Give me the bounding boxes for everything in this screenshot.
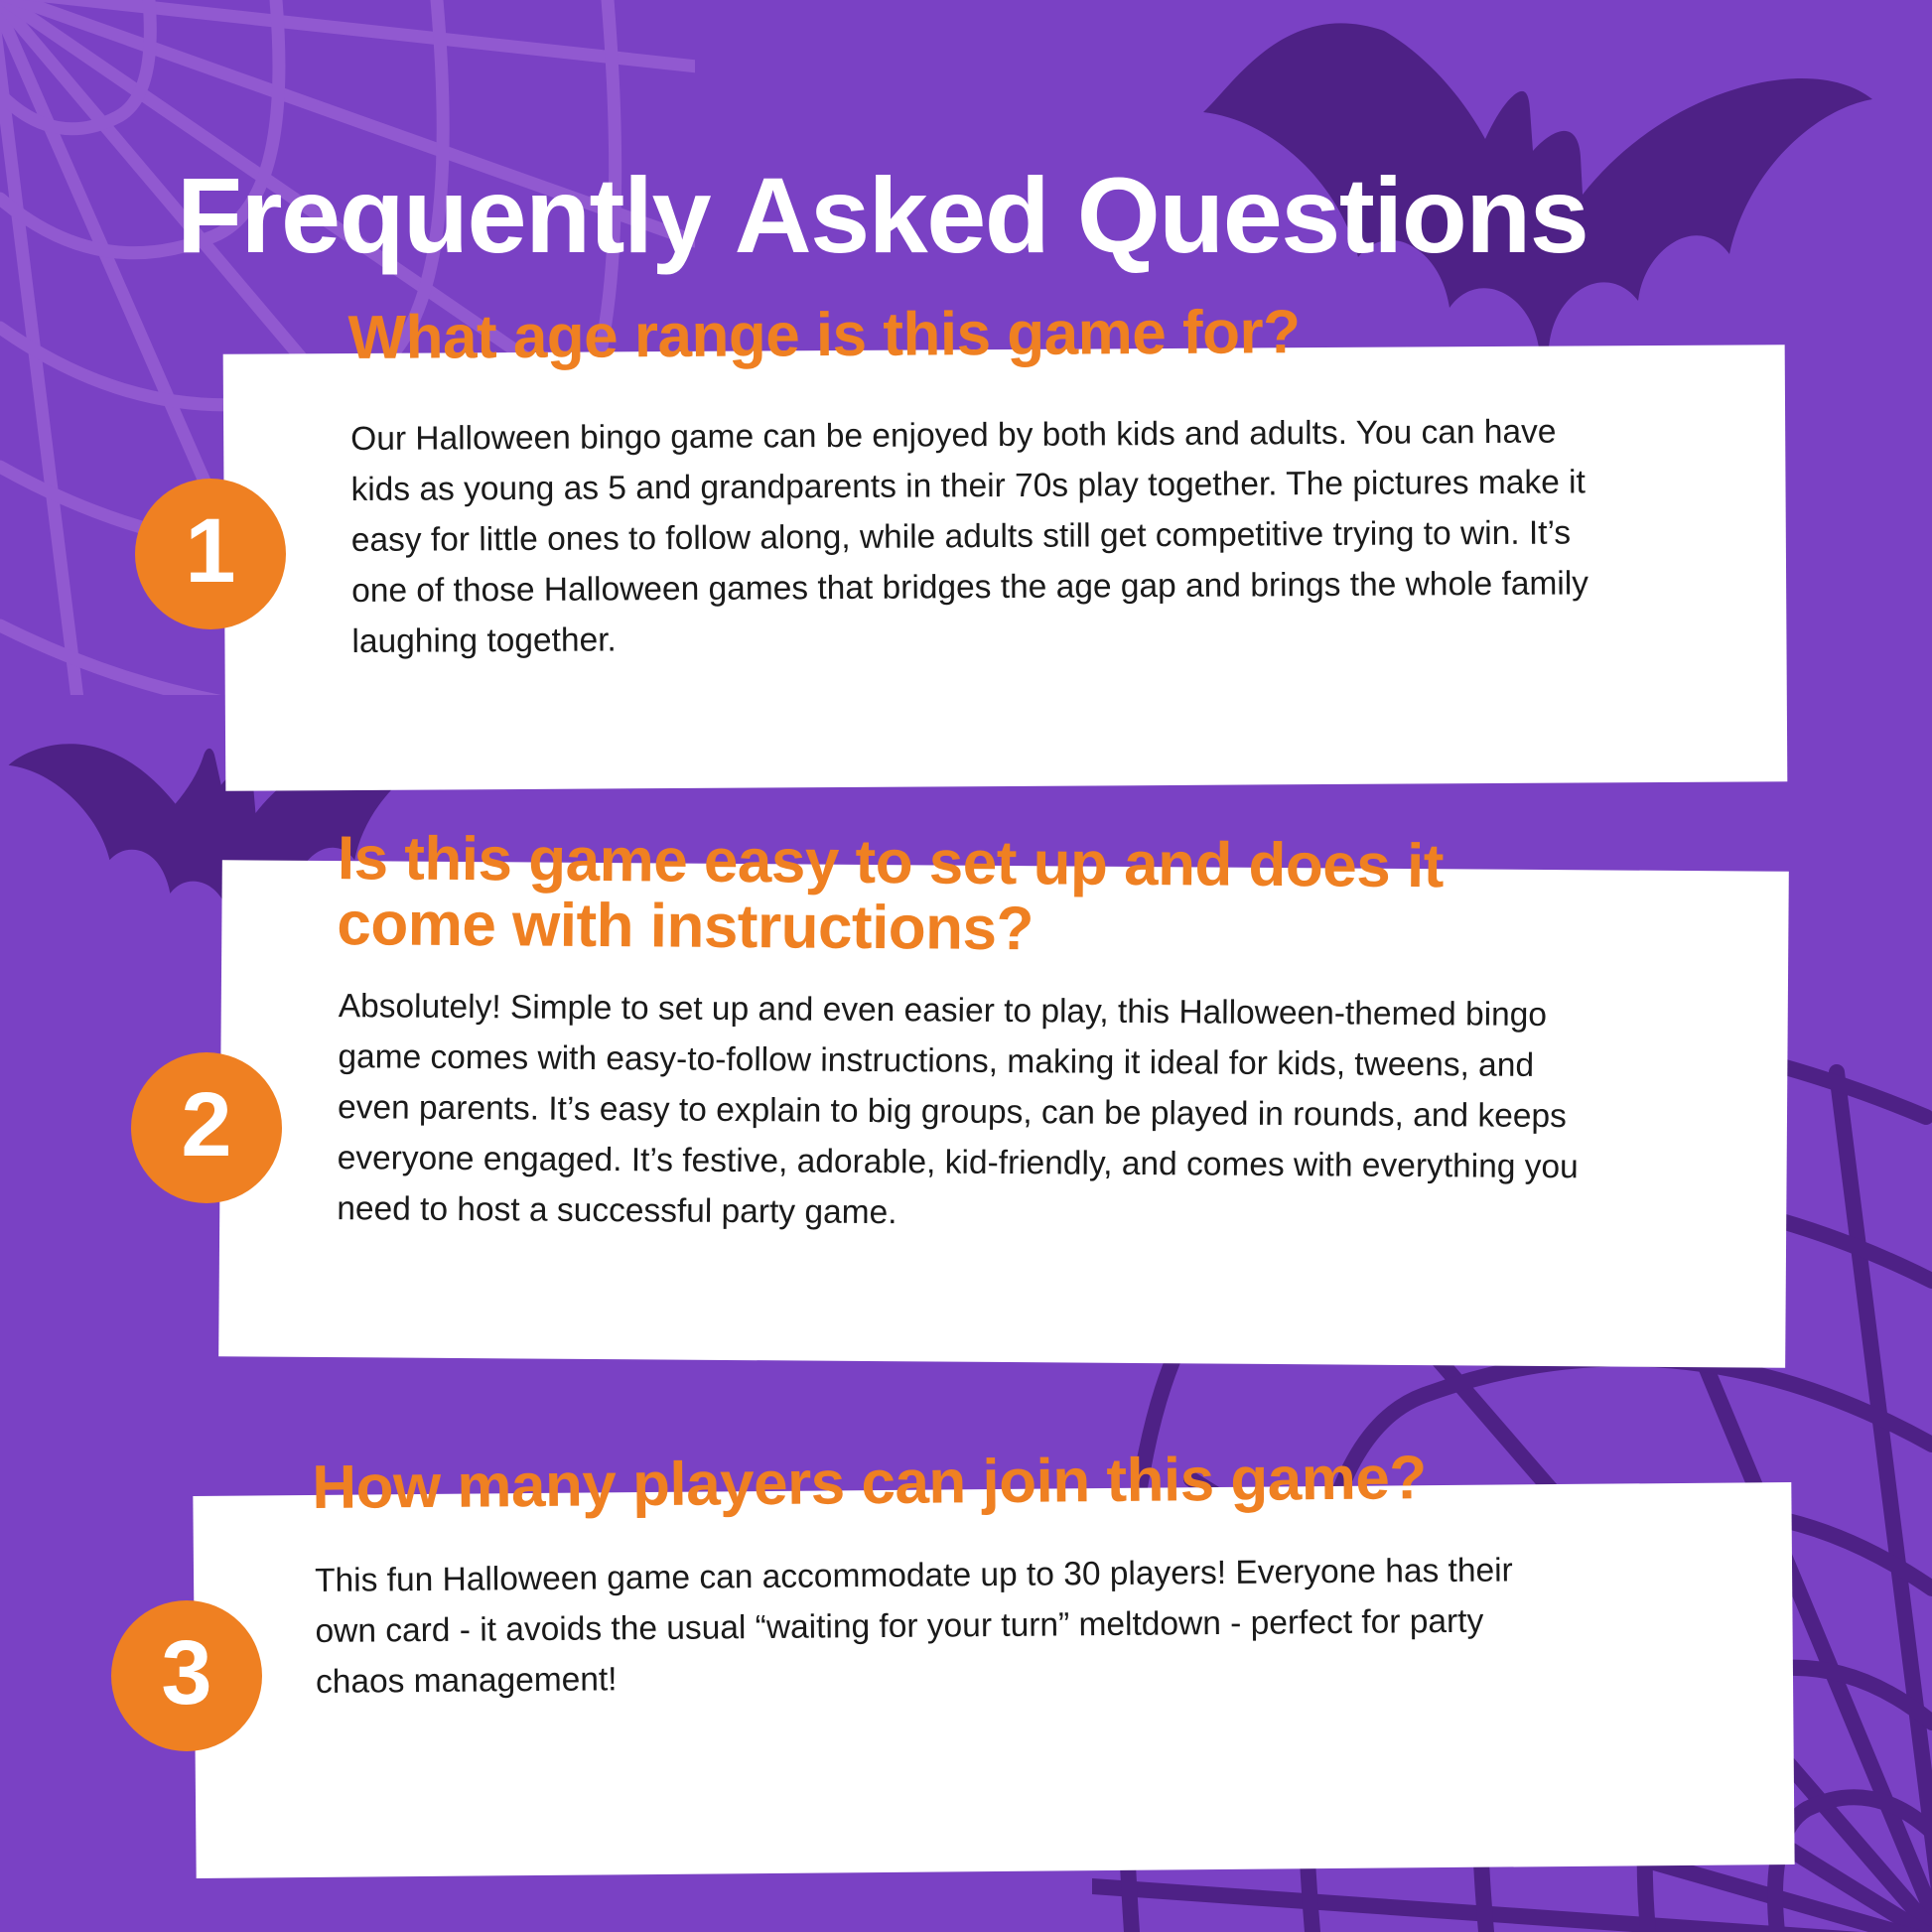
faq-answer-1: Our Halloween bingo game can be enjoyed … — [350, 407, 1605, 667]
faq-answer-2: Absolutely! Simple to set up and even ea… — [337, 982, 1614, 1244]
faq-card-2[interactable]: Is this game easy to set up and does it … — [218, 860, 1789, 1368]
faq-answer-3: This fun Halloween game can accommodate … — [315, 1546, 1569, 1709]
faq-question-1: What age range is this game for? — [347, 298, 1668, 371]
faq-number-badge-3: 3 — [111, 1600, 262, 1751]
faq-question-2: Is this game easy to set up and does it … — [337, 826, 1569, 966]
faq-card-1[interactable]: What age range is this game for? Our Hal… — [223, 345, 1788, 791]
page-title: Frequently Asked Questions — [177, 159, 1805, 271]
faq-poster: Frequently Asked Questions What age rang… — [0, 0, 1932, 1932]
faq-card-3[interactable]: How many players can join this game? Thi… — [193, 1482, 1794, 1878]
faq-question-3: How many players can join this game? — [312, 1444, 1633, 1520]
faq-number-badge-1: 1 — [135, 479, 286, 629]
faq-number-badge-2: 2 — [131, 1052, 282, 1203]
